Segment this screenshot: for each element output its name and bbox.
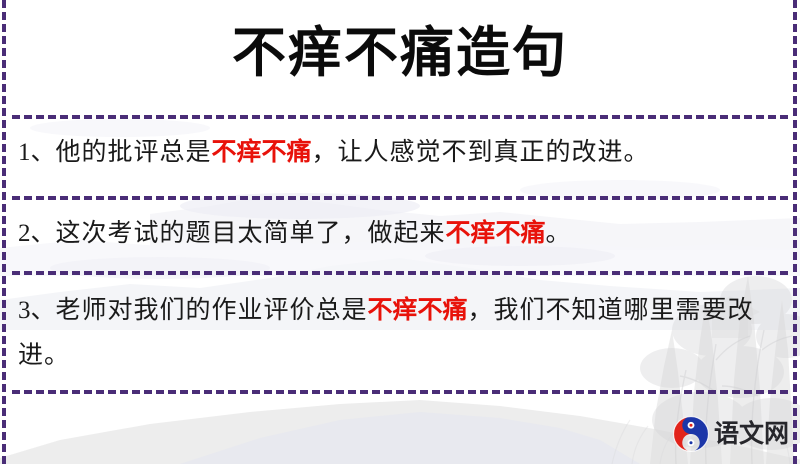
sentence-number: 3、 [18, 297, 56, 324]
sentence-row: 1、他的批评总是不痒不痛，让人感觉不到真正的改进。 [18, 129, 778, 175]
sentence-text-before: 老师对我们的作业评价总是 [56, 297, 368, 324]
dashed-separator-2 [12, 196, 788, 200]
sentence-row: 2、这次考试的题目太简单了，做起来不痒不痛。 [18, 210, 778, 256]
dashed-separator-3 [12, 271, 788, 275]
idiom-highlight: 不痒不痛 [446, 218, 546, 247]
sentence-number: 2、 [18, 220, 56, 247]
dashed-separator-4 [12, 390, 788, 394]
sentence-text-before: 这次考试的题目太简单了，做起来 [56, 220, 446, 247]
dashed-separator-1 [12, 115, 788, 119]
site-logo: 语文网 [672, 414, 786, 454]
sentence-number: 1、 [18, 139, 56, 166]
sentence-row: 3、老师对我们的作业评价总是不痒不痛，我们不知道哪里需要改进。 [18, 287, 778, 378]
yinyang-fish-logo-icon [672, 415, 710, 453]
site-logo-text: 语文网 [714, 415, 789, 453]
sentence-text-before: 他的批评总是 [56, 139, 212, 166]
sentence-text-after: ，让人感觉不到真正的改进。 [312, 139, 650, 166]
sentence-text-after: 。 [546, 220, 572, 247]
page-title: 不痒不痛造句 [0, 16, 800, 88]
worksheet-page: 不痒不痛造句 1、他的批评总是不痒不痛，让人感觉不到真正的改进。 2、这次考试的… [0, 0, 800, 464]
idiom-highlight: 不痒不痛 [368, 295, 468, 324]
idiom-highlight: 不痒不痛 [212, 137, 312, 166]
